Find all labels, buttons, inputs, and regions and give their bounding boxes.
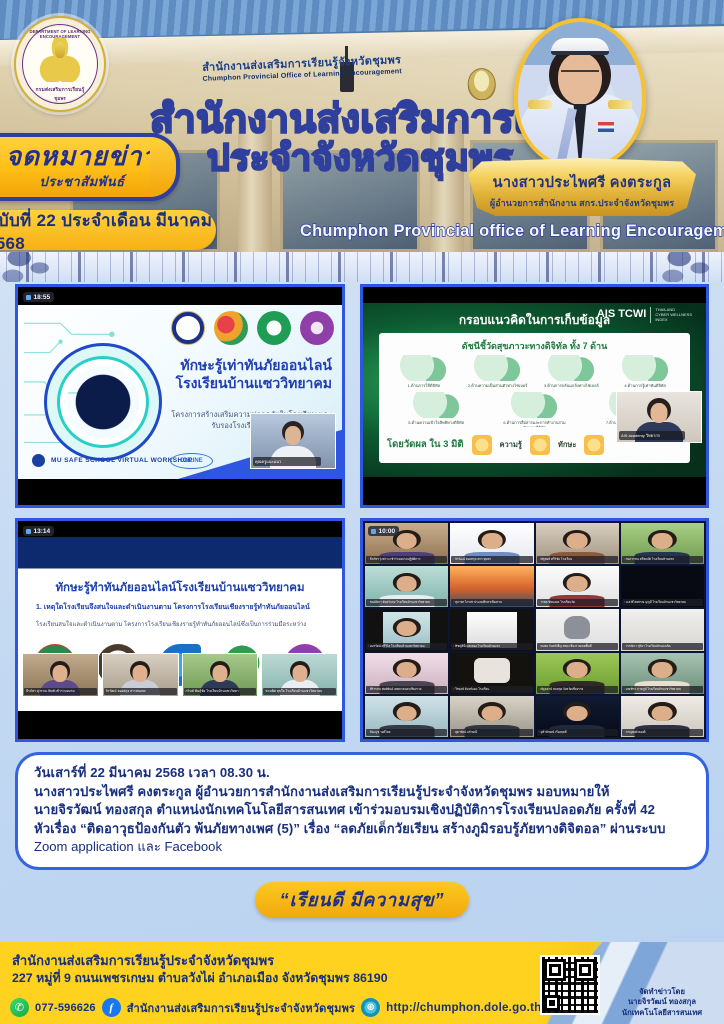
pip-nametag: สุภาพร ไกรสร ประถมศึกษาเชียงราย (451, 599, 532, 606)
zoom-clock-badge: 18:55 (23, 292, 54, 302)
purple-stupa-logo-icon (300, 311, 334, 345)
slide-logo-row (171, 311, 334, 345)
pip-nametag: วรพล ชัยมงคล โรงเรียนวัด (537, 599, 618, 606)
pip-nametag: จิรวัฒน์ ทองสกุล สารสนเทศ (104, 688, 177, 695)
gallery-tile: วรพล ชัยมงคล โรงเรียนวัด (536, 566, 619, 607)
body-line-1: วันเสาร์ที่ 22 มีนาคม 2568 เวลา 08.30 น. (34, 764, 690, 783)
globe-icon: ⊕ (361, 998, 380, 1017)
ribbon-line2: ประชาสัมพันธ์ (39, 171, 124, 192)
participant-thumbnail: ชวนพิศ สุขใจ โรงเรียนบ้านแซววิทยาคม (261, 653, 338, 697)
gallery-tile: ภาณุพงศ์ ทองดี (621, 696, 704, 737)
footer-org-name: สำนักงานส่งเสริมการเรียนรู้ประจำจังหวัดช… (12, 952, 388, 970)
pip-face (212, 665, 227, 682)
ribbon-line1: จดหมายข่าว (6, 143, 158, 169)
gallery-tile-bridge-background: สุภาพร ไกรสร ประถมศึกษาเชียงราย (450, 566, 533, 607)
clock-icon (26, 529, 31, 534)
footer-contact-row: ✆ 077-596626 f สำนักงานส่งเสริมการเรียนร… (10, 998, 545, 1017)
issue-badge: ฉบับที่ 22 ประจำเดือน มีนาคม 2568 (0, 210, 216, 250)
slide1-title-line2: โรงเรียนบ้านแซววิทยาคม (142, 375, 332, 393)
portrait-glasses-icon (561, 70, 599, 80)
zoom-clock-time: 10:00 (379, 528, 396, 535)
slide3-title: ทักษะรู้ทำทันภัยออนไลน์โรงเรียนบ้านแซววิ… (18, 579, 342, 597)
gallery-tile: กนกวรรณ ศรีสมบัติ โรงเรียนบ้านแซว (621, 523, 704, 564)
pip-face (567, 662, 588, 678)
photo-ais-tcwi-framework[interactable]: กรอบแนวคิดในการเก็บข้อมูล AIS TCWI THAIL… (360, 284, 709, 508)
skill-label: ทักษะ (558, 439, 576, 451)
dimension-row: 1.ด้านการใช้ดิจิทัล 2.ด้านความเป็นส่วนตั… (387, 355, 682, 388)
crest-logo-icon (171, 311, 205, 345)
slogan-badge: “เรียนดี มีความสุข” (255, 882, 469, 918)
presentation-slide: ทักษะรู้เท่าทันภัยออนไลน์ โรงเรียนบ้านแซ… (18, 305, 342, 479)
dimension-label: 4.ด้านการรู้เท่าทันดิจิทัล (613, 383, 678, 388)
participant-thumbnail: ธีรภัทร สุวรรณ พิมพ์ เข้าร่วมอบรม (22, 653, 99, 697)
pip-nametag: น.ส.พิไลพรรณ บุญมี โรงเรียนบ้านแซววิทยาค… (622, 599, 703, 606)
anniversary-60-logo-icon (214, 311, 248, 345)
dimension-illustration-icon (539, 355, 604, 381)
slide1-footer: MU SAFE SCHOOL VIRTUAL WORKSHOP (32, 454, 193, 467)
department-seal-logo: DEPARTMENT OF LEARNING ENCOURAGEMENT กรม… (14, 16, 106, 112)
floral-decorative-band (0, 252, 724, 282)
dimension-item: 4.ด้านการรู้เท่าทันดิจิทัล (613, 355, 678, 388)
zoom-participant-gallery: ธีรภัทร รุ่งสว่าง เข้าร่วมอบรมปฏิบัติการ… (363, 521, 706, 739)
slide3-question: 1. เหตุใดโรงเรียนจึงสนใจและดำเนินงานตาม … (36, 603, 328, 614)
pip-face (396, 662, 417, 678)
zoom-clock-badge: 10:00 (368, 526, 399, 536)
dimension-label: 3.ด้านการกลั่นแกล้งทางไซเบอร์ (539, 383, 604, 388)
attitude-icon (584, 435, 604, 455)
portrait-epaulette (528, 100, 552, 109)
pip-nametag: ธนพล จันทร์เพ็ญ สพม.เชียงรายเขตพื้นที่ (537, 643, 618, 650)
garuda-crest-icon (468, 69, 495, 100)
dimension-item: 3.ด้านการกลั่นแกล้งทางไซเบอร์ (539, 355, 604, 388)
official-name: นางสาวประไพศรี คงตระกูล (493, 171, 672, 194)
pip-nametag: วีรพงษ์ จันทร์แดง โรงเรียน (451, 686, 532, 693)
official-name-banner: นางสาวประไพศรี คงตระกูล ผู้อำนวยการสำนัก… (468, 158, 696, 216)
pip-nametag: พิชญ์สินี แสงทอง โรงเรียนบ้านแซว (451, 643, 532, 650)
dimension-item: 2.ด้านความเป็นส่วนตัวทางไซเบอร์ (465, 355, 530, 388)
pip-nametag: จุฬาลักษณ์ เรืองฤทธิ์ (537, 729, 618, 736)
credit-line-1: จัดทำข่าวโดย (606, 987, 718, 997)
footer-address: 227 หมู่ที่ 9 ถนนเพชรเกษม ตำบลวังไผ่ อำเ… (12, 970, 388, 987)
photo-mu-safe-school[interactable]: 18:55 (15, 284, 345, 508)
pip-face (133, 665, 148, 682)
dimension-item: 1.ด้านการใช้ดิจิทัล (391, 355, 456, 388)
slogan-text: “เรียนดี มีความสุข” (280, 885, 445, 914)
news-body-card: วันเสาร์ที่ 22 มีนาคม 2568 เวลา 08.30 น.… (15, 752, 709, 870)
pip-nametag: ภาณุพงศ์ ทองดี (622, 729, 703, 736)
pip-nametag: ชนม์นิภา จันทร์แจ่ม โรงเรียนบ้านแซววิทยา… (366, 599, 447, 606)
pip-nametag: ธีรภัทร สุวรรณ พิมพ์ เข้าร่วมอบรม (24, 688, 97, 695)
credit-line-3: นักเทคโนโลยีสารสนเทศ (606, 1008, 718, 1018)
footer-address-block: สำนักงานส่งเสริมการเรียนรู้ประจำจังหวัดช… (12, 952, 388, 987)
slide1-title: ทักษะรู้เท่าทันภัยออนไลน์ โรงเรียนบ้านแซ… (142, 357, 332, 393)
facebook-icon[interactable]: f (102, 998, 121, 1017)
dimension-illustration-icon (404, 392, 469, 418)
participant-thumbnail: กวินท์ พันธุ์ชัย โรงเรียนบ้านแซววิทยา (182, 653, 259, 697)
gallery-tile: ปิยะนุช วงศ์ไทย (365, 696, 448, 737)
body-line-2: นางสาวประไพศรี คงตระกูล ผู้อำนวยการสำนัก… (34, 783, 690, 802)
clock-icon (371, 529, 376, 534)
credit-line-2: นายจิรวัฒน์ ทองสกุล (606, 997, 718, 1007)
clock-icon (26, 295, 31, 300)
gallery-tile-night: จุฬาลักษณ์ เรืองฤทธิ์ (536, 696, 619, 737)
body-line-5: Zoom application และ Facebook (34, 838, 690, 857)
dimension-item: 5.ด้านความเข้าใจสิทธิทางดิจิทัล (404, 392, 469, 430)
dimension-label: 1.ด้านการใช้ดิจิทัล (391, 383, 456, 388)
knowledge-icon (472, 435, 492, 455)
poster-footer: สำนักงานส่งเสริมการเรียนรู้ประจำจังหวัดช… (0, 942, 724, 1024)
zoom-clock-time: 13:14 (34, 528, 51, 535)
dimension-illustration-icon (502, 392, 567, 418)
avatar (514, 18, 646, 170)
dimension-label: 5.ด้านความเข้าใจสิทธิทางดิจิทัล (404, 420, 469, 425)
cat-avatar-icon (564, 616, 591, 639)
knowledge-label: ความรู้ (500, 439, 522, 451)
skill-icon (530, 435, 550, 455)
footer-phone[interactable]: 077-596626 (35, 1002, 96, 1014)
speaker-video-thumbnail: AIS academy วิทยากร (616, 391, 702, 443)
pip-face (567, 533, 588, 549)
portrait-medal-badge (598, 122, 614, 132)
pip-face (285, 426, 301, 445)
photo-online-safety-slide[interactable]: 13:14 ทักษะรู้ทำทันภัยออนไลน์โรงเรียนบ้า… (15, 518, 345, 742)
gallery-tile: วรรณิภา สุริยา โรงเรียนบ้านปงเกิด (621, 609, 704, 650)
dimension-illustration-icon (613, 355, 678, 381)
green-person-logo-icon (257, 311, 291, 345)
issue-label: ฉบับที่ 22 ประจำเดือน มีนาคม 2568 (0, 207, 216, 253)
pip-face (567, 576, 588, 592)
newsletter-ribbon-badge: จดหมายข่าว ประชาสัมพันธ์ (0, 133, 180, 201)
page-title-english: Chumphon Provincial office of Learning E… (300, 222, 724, 241)
pip-nametag: ณัฐธยาน์ สมสกุล จังหวัดเชียงราย (537, 686, 618, 693)
seal-bottom-text: กรมส่งเสริมการเรียนรู้ (16, 86, 104, 94)
dimension-illustration-icon (465, 355, 530, 381)
footer-facebook[interactable]: สำนักงานส่งเสริมการเรียนรู้ประจำจังหวัดช… (127, 999, 355, 1017)
zoom-clock-badge: 13:14 (23, 526, 54, 536)
qr-code[interactable] (540, 955, 600, 1015)
pip-nametag: อมรรัตน์ ศรีวิไล โรงเรียนบ้านแซววิทยาคม (366, 643, 447, 650)
pip-face (396, 576, 417, 592)
presentation-slide: ทักษะรู้ทำทันภัยออนไลน์โรงเรียนบ้านแซววิ… (18, 537, 342, 711)
pip-face (567, 706, 588, 722)
gallery-tile: ศิริวรรณ พงษ์พันธ์ เทศบาลนครเชียงราย (365, 653, 448, 694)
body-line-3: นายจิรวัฒน์ ทองสกุล ตำแหน่งนักเทคโนโลยีส… (34, 801, 690, 820)
body-line-4: หัวเรื่อง “ติดอาวุธป้องกันตัว พ้นภัยทางเ… (34, 820, 690, 839)
official-portrait-medallion (514, 18, 646, 170)
slide2-card-title: ดัชนีชี้วัดสุขภาวะทางดิจิทัล ทั้ง 7 ด้าน (379, 339, 690, 353)
online-badge: ONLINE (170, 453, 213, 469)
dimension-label: 2.ด้านความเป็นส่วนตัวทางไซเบอร์ (465, 383, 530, 388)
dimension-illustration-icon (391, 355, 456, 381)
gallery-tile: วีรพงษ์ จันทร์แดง โรงเรียน (450, 653, 533, 694)
pip-nametag: สุดารัตน์ แก้วมณี (451, 729, 532, 736)
participant-thumbnail: จิรวัฒน์ ทองสกุล สารสนเทศ (102, 653, 179, 697)
pip-face (651, 403, 668, 423)
poster-header: สำนักงานส่งเสริมการเรียนรู้จังหวัดชุมพร … (0, 0, 724, 252)
gallery-tile: ชนม์นิภา จันทร์แจ่ม โรงเรียนบ้านแซววิทยา… (365, 566, 448, 607)
ais-brand-text: AIS TCWI (597, 309, 647, 320)
pip-nametag: ปิยะนุช วงศ์ไทย (366, 729, 447, 736)
participant-video-thumbnail: คุณครูแนะแนว (250, 413, 336, 469)
footer-credit-block: จัดทำข่าวโดย นายจิรวัฒน์ ทองสกุล นักเทคโ… (606, 987, 718, 1018)
gallery-tile-avatar: ธนพล จันทร์เพ็ญ สพม.เชียงรายเขตพื้นที่ (536, 609, 619, 650)
pip-nametag: มณฑิรา ภาคภูมิ โรงเรียนบ้านแซววิทยาคม (622, 686, 703, 693)
gallery-tile: สุดารัตน์ แก้วมณี (450, 696, 533, 737)
brand-sub-line3: INDEX (655, 317, 692, 322)
pip-face (652, 706, 673, 722)
dimension-item: 6.ด้านการสื่อสารและการทำงานร่วมกันแบบดิจ… (502, 392, 567, 430)
pip-nametag: ชวนพิศ สุขใจ โรงเรียนบ้านแซววิทยาคม (263, 688, 336, 695)
pip-face (396, 621, 417, 637)
mu-logo-icon (32, 454, 45, 467)
portrait-epaulette (608, 100, 632, 109)
pip-face (53, 665, 68, 682)
gallery-tile-camera-off: น.ส.พิไลพรรณ บุญมี โรงเรียนบ้านแซววิทยาค… (621, 566, 704, 607)
phone-icon: ✆ (10, 998, 29, 1017)
photo-grid: 18:55 (15, 284, 709, 742)
pip-nametag: กวินท์ พันธุ์ชัย โรงเรียนบ้านแซววิทยา (184, 688, 257, 695)
qr-corner-marker (544, 995, 560, 1011)
pip-face (396, 533, 417, 549)
pip-face (481, 706, 502, 722)
seal-emblem-icon (38, 38, 82, 82)
ais-tcwi-logo: AIS TCWI THAILAND CYBER WELLNESS INDEX (597, 307, 692, 323)
pip-face (292, 665, 307, 682)
ais-brand-subtext: THAILAND CYBER WELLNESS INDEX (650, 307, 692, 323)
pip-nametag: ณัฐพงษ์ ศรีวิชัย โรงเรียน (537, 556, 618, 563)
slide1-title-line1: ทักษะรู้เท่าทันภัยออนไลน์ (142, 357, 332, 375)
gallery-tile: ณัฐธยาน์ สมสกุล จังหวัดเชียงราย (536, 653, 619, 694)
photo-zoom-gallery[interactable]: ธีรภัทร รุ่งสว่าง เข้าร่วมอบรมปฏิบัติการ… (360, 518, 709, 742)
footer-website[interactable]: http://chumphon.dole.go.th/ (386, 1001, 545, 1014)
page-title-line1: สำนักงานส่งเสริมการเรียนรู้ (150, 100, 570, 140)
pip-nametag: กนกวรรณ ศรีสมบัติ โรงเรียนบ้านแซว (622, 556, 703, 563)
pip-nametag: ธีรภัทร รุ่งสว่าง เข้าร่วมอบรมปฏิบัติการ (366, 556, 447, 563)
zoom-clock-time: 18:55 (34, 294, 51, 301)
pip-inner-frame (474, 658, 511, 683)
pip-nametag: วรรณิภา สุริยา โรงเรียนบ้านปงเกิด (622, 643, 703, 650)
participant-strip: ธีรภัทร สุวรรณ พิมพ์ เข้าร่วมอบรม จิรวัฒ… (22, 653, 338, 697)
newsletter-poster: สำนักงานส่งเสริมการเรียนรู้จังหวัดชุมพร … (0, 0, 724, 1024)
presentation-slide: กรอบแนวคิดในการเก็บข้อมูล AIS TCWI THAIL… (363, 303, 706, 477)
pip-nametag: ศิริวรรณ พงษ์พันธ์ เทศบาลนครเชียงราย (366, 686, 447, 693)
pip-nametag: AIS academy วิทยากร (619, 431, 685, 440)
pip-face (481, 533, 502, 549)
seal-sub-text: ชุมพร (16, 95, 104, 102)
gallery-tile: มณฑิรา ภาคภูมิ โรงเรียนบ้านแซววิทยาคม (621, 653, 704, 694)
pip-nametag: จิรวัฒน์ ทองสกุล สกร.ชุมพร (451, 556, 532, 563)
official-position: ผู้อำนวยการสำนักงาน สกร.ประจำจังหวัดชุมพ… (490, 196, 674, 210)
gallery-tile: พิชญ์สินี แสงทอง โรงเรียนบ้านแซว (450, 609, 533, 650)
slide3-body: โรงเรียนสนใจและดำเนินงานตาม โครงการโรงเร… (36, 621, 328, 630)
gallery-tile: อมรรัตน์ ศรีวิไล โรงเรียนบ้านแซววิทยาคม (365, 609, 448, 650)
pip-face (396, 706, 417, 722)
pip-face (652, 662, 673, 678)
portrait-cap (551, 38, 609, 55)
gallery-tile: ณัฐพงษ์ ศรีวิชัย โรงเรียน (536, 523, 619, 564)
measurement-label: โดยวัดผล ใน 3 มิติ (387, 440, 464, 451)
pip-face (652, 533, 673, 549)
gallery-tile: จิรวัฒน์ ทองสกุล สกร.ชุมพร (450, 523, 533, 564)
pip-nametag: คุณครูแนะแนว (253, 457, 321, 466)
